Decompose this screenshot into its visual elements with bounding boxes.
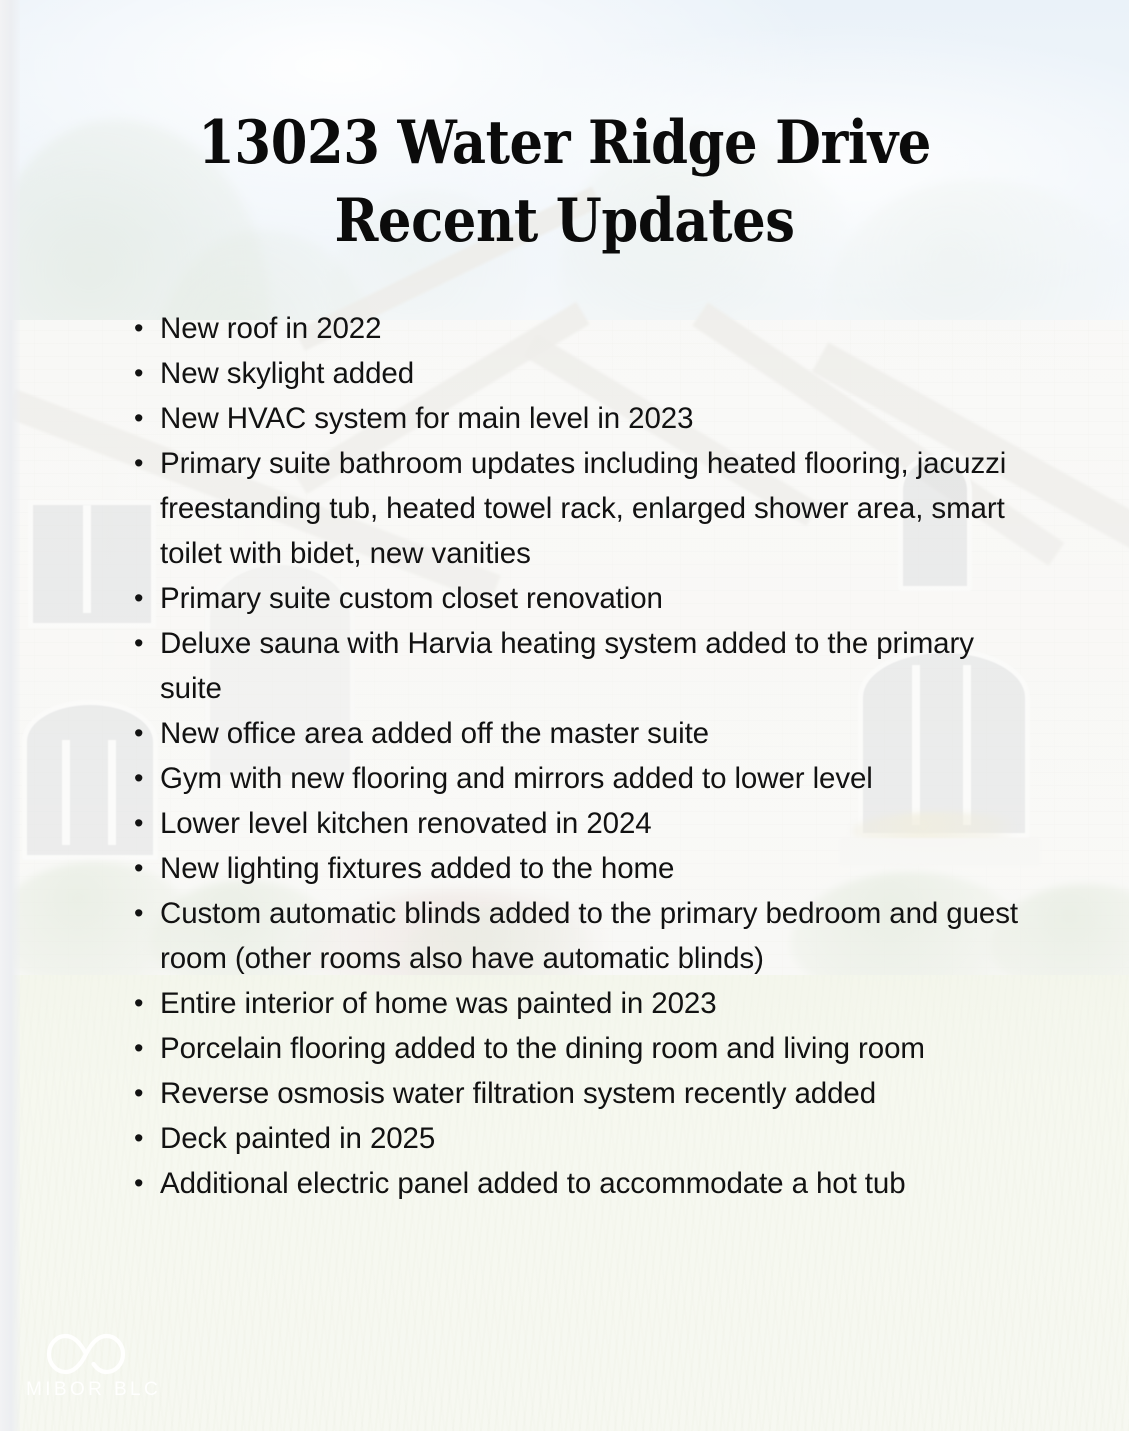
list-item: Primary suite bathroom updates including…: [130, 441, 1035, 576]
list-item: Porcelain flooring added to the dining r…: [130, 1026, 1035, 1071]
flyer-page: 13023 Water Ridge Drive Recent Updates N…: [0, 0, 1129, 1431]
list-item: Custom automatic blinds added to the pri…: [130, 891, 1035, 981]
list-item: Primary suite custom closet renovation: [130, 576, 1035, 621]
mibor-blc-logo: MIBOR BLC: [26, 1331, 176, 1401]
list-item: New skylight added: [130, 351, 1035, 396]
logo-text: MIBOR BLC: [26, 1379, 176, 1401]
list-item: Lower level kitchen renovated in 2024: [130, 801, 1035, 846]
list-item: Additional electric panel added to accom…: [130, 1161, 1035, 1206]
title-line-subtitle: Recent Updates: [68, 182, 1062, 260]
updates-list: New roof in 2022 New skylight added New …: [130, 306, 1035, 1206]
list-item: New lighting fixtures added to the home: [130, 846, 1035, 891]
list-item: Gym with new flooring and mirrors added …: [130, 756, 1035, 801]
content-layer: 13023 Water Ridge Drive Recent Updates N…: [0, 0, 1129, 1431]
list-item: Deluxe sauna with Harvia heating system …: [130, 621, 1035, 711]
infinity-icon: [44, 1331, 128, 1377]
page-title: 13023 Water Ridge Drive Recent Updates: [0, 104, 1129, 260]
list-item: New office area added off the master sui…: [130, 711, 1035, 756]
title-line-address: 13023 Water Ridge Drive: [68, 104, 1062, 182]
list-item: Entire interior of home was painted in 2…: [130, 981, 1035, 1026]
list-item: New roof in 2022: [130, 306, 1035, 351]
list-item: New HVAC system for main level in 2023: [130, 396, 1035, 441]
list-item: Deck painted in 2025: [130, 1116, 1035, 1161]
list-item: Reverse osmosis water filtration system …: [130, 1071, 1035, 1116]
